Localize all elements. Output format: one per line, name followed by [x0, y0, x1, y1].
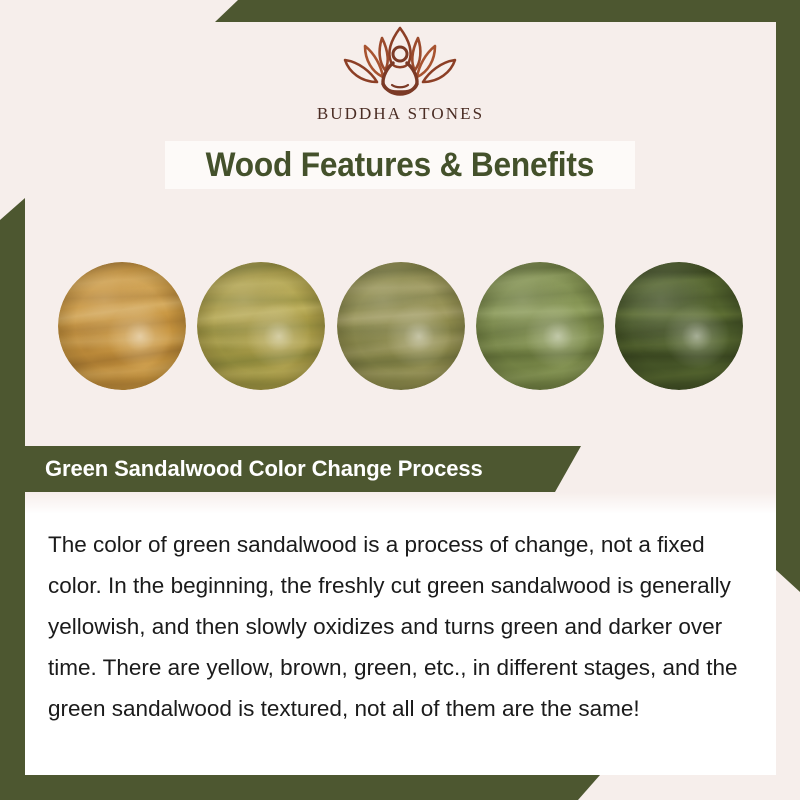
bead-stage-1 — [58, 262, 186, 390]
panel-top-fade — [25, 492, 776, 514]
frame-left-bar — [0, 198, 25, 800]
bead-progression-row — [25, 248, 776, 404]
section-banner-title: Green Sandalwood Color Change Process — [25, 456, 483, 482]
bead-stage-4 — [476, 262, 604, 390]
body-panel: The color of green sandalwood is a proce… — [25, 492, 776, 775]
frame-bottom-bar — [0, 775, 600, 800]
frame-right-bar — [776, 0, 800, 592]
brand-logo: BUDDHA STONES — [317, 22, 484, 124]
bead-shading-2 — [197, 262, 325, 390]
page-title-band: Wood Features & Benefits — [165, 141, 635, 189]
section-banner: Green Sandalwood Color Change Process — [25, 446, 581, 492]
bead-stage-3 — [337, 262, 465, 390]
bead-shading-5 — [615, 262, 743, 390]
bead-shading-1 — [58, 262, 186, 390]
poster-canvas: BUDDHA STONES Wood Features & Benefits — [0, 0, 800, 800]
brand-wordmark: BUDDHA STONES — [317, 104, 484, 124]
bead-shading-4 — [476, 262, 604, 390]
page-title: Wood Features & Benefits — [206, 146, 595, 185]
bead-shading-3 — [337, 262, 465, 390]
lotus-meditation-figure-icon — [325, 22, 475, 100]
bead-stage-2 — [197, 262, 325, 390]
bead-stage-5 — [615, 262, 743, 390]
body-paragraph: The color of green sandalwood is a proce… — [48, 524, 754, 729]
